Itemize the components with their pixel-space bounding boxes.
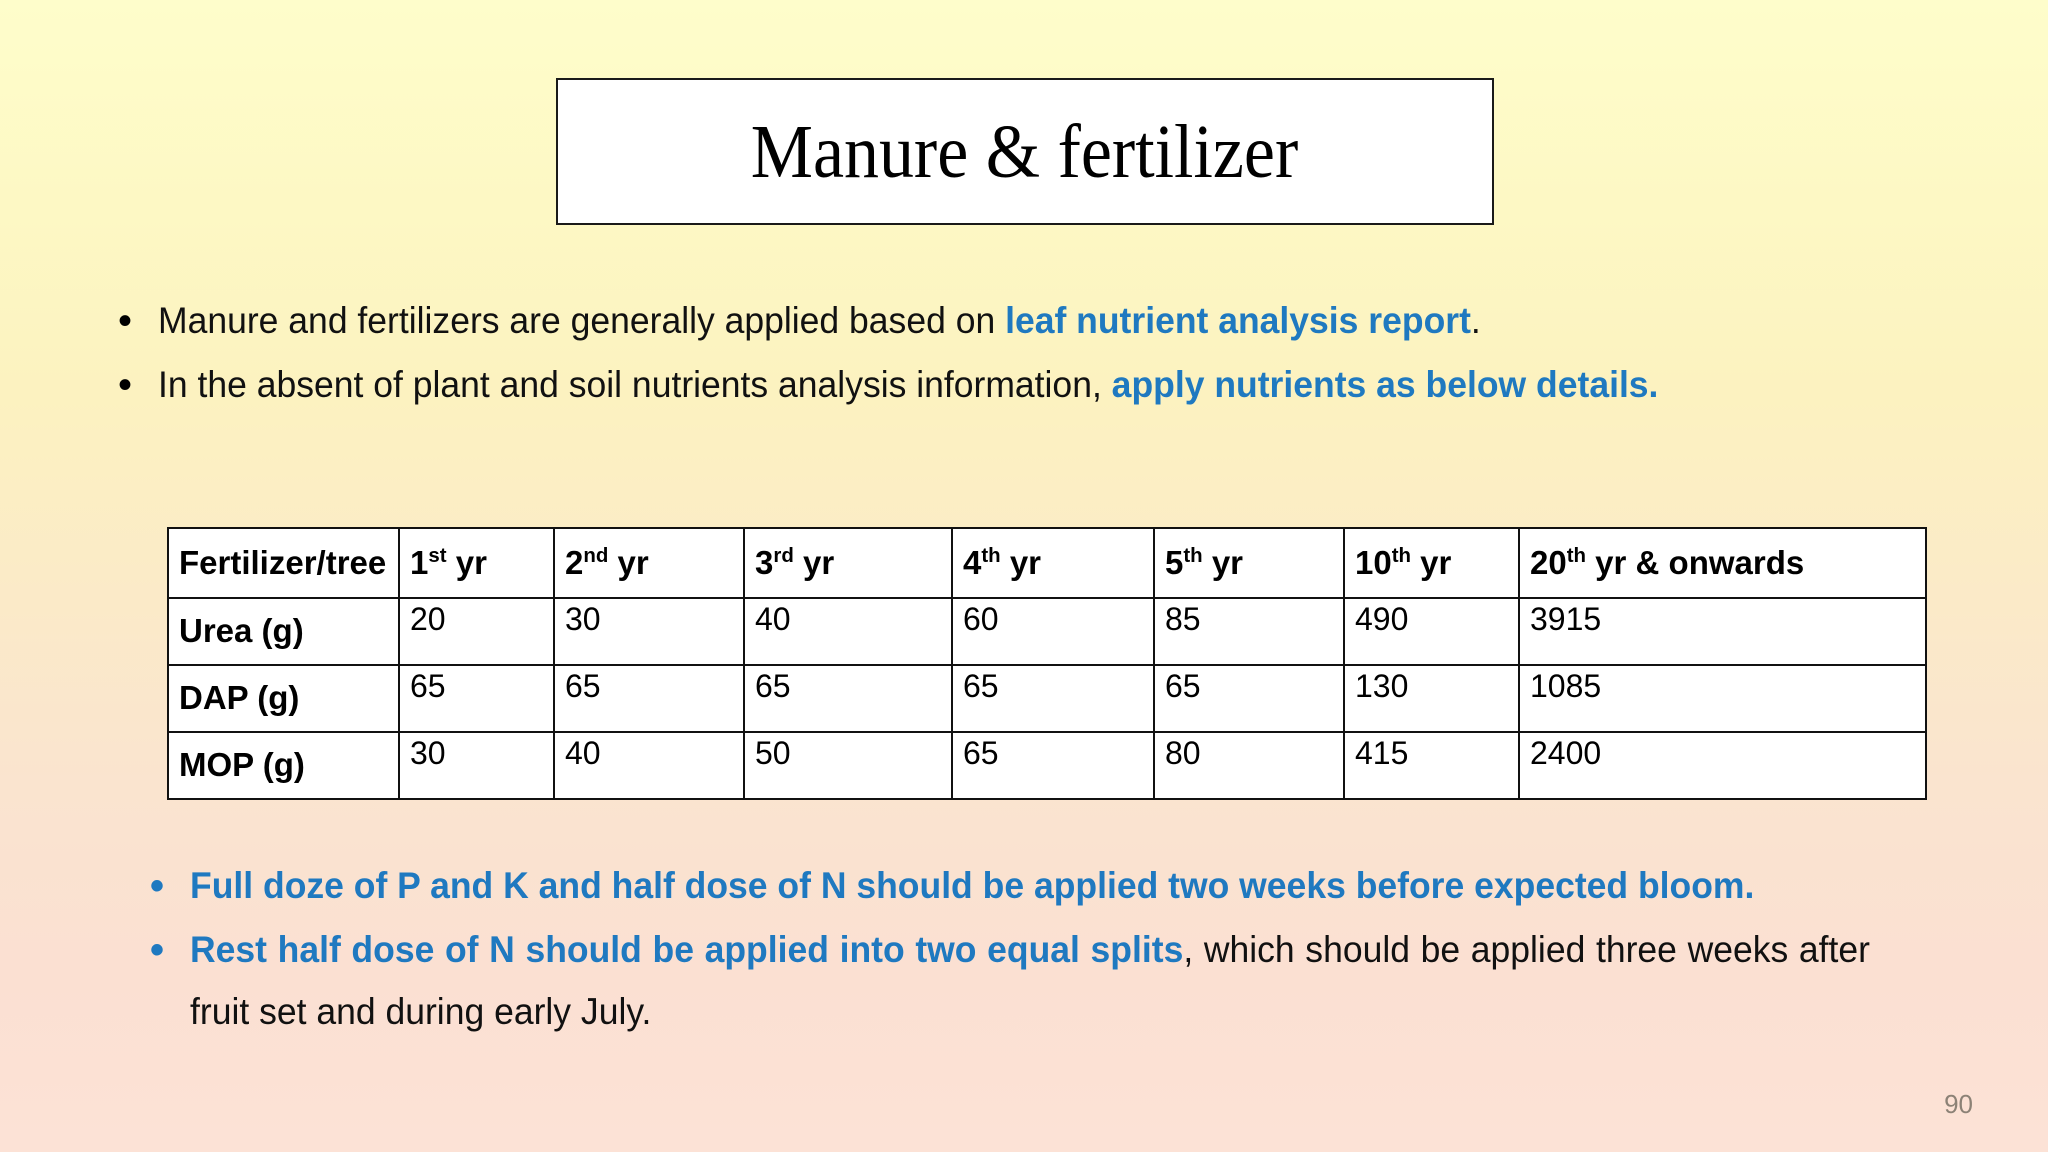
header-main: 5 bbox=[1165, 544, 1183, 581]
table-column-header: 3rd yr bbox=[744, 528, 952, 598]
header-tail: yr bbox=[608, 544, 648, 581]
table-cell: 40 bbox=[744, 598, 952, 665]
table-row-label: DAP (g) bbox=[168, 665, 399, 732]
bullet-text: Rest half dose of N should be applied in… bbox=[190, 919, 1870, 1043]
table-cell: 2400 bbox=[1519, 732, 1926, 799]
table-cell: 85 bbox=[1154, 598, 1344, 665]
highlighted-text: Full doze of P and K and half dose of N … bbox=[190, 865, 1754, 906]
header-tail: yr bbox=[1001, 544, 1041, 581]
header-tail: yr bbox=[794, 544, 834, 581]
highlighted-text: apply nutrients as below details. bbox=[1112, 364, 1659, 405]
table-row-label: Urea (g) bbox=[168, 598, 399, 665]
table-column-header: 5th yr bbox=[1154, 528, 1344, 598]
table-header: Fertilizer/tree1st yr2nd yr3rd yr4th yr5… bbox=[168, 528, 1926, 598]
bullet-item: •In the absent of plant and soil nutrien… bbox=[118, 354, 1938, 416]
bullet-text: In the absent of plant and soil nutrient… bbox=[158, 354, 1867, 416]
highlighted-text: leaf nutrient analysis report bbox=[1005, 300, 1471, 341]
header-ordinal-suffix: th bbox=[981, 544, 1000, 567]
table-cell: 65 bbox=[952, 732, 1154, 799]
table-column-header: 20th yr & onwards bbox=[1519, 528, 1926, 598]
table-header-row: Fertilizer/tree1st yr2nd yr3rd yr4th yr5… bbox=[168, 528, 1926, 598]
table-row: MOP (g)30405065804152400 bbox=[168, 732, 1926, 799]
header-main: 3 bbox=[755, 544, 773, 581]
table-row: Urea (g)20304060854903915 bbox=[168, 598, 1926, 665]
table-cell: 50 bbox=[744, 732, 952, 799]
table-cell: 65 bbox=[1154, 665, 1344, 732]
table-cell: 30 bbox=[554, 598, 744, 665]
bullet-text: Manure and fertilizers are generally app… bbox=[158, 290, 1867, 352]
header-tail: yr bbox=[1203, 544, 1243, 581]
page-number: 90 bbox=[1944, 1089, 1973, 1120]
highlighted-text: Rest half dose of N should be applied in… bbox=[190, 929, 1183, 970]
bullet-item: •Manure and fertilizers are generally ap… bbox=[118, 290, 1938, 352]
table-cell: 65 bbox=[952, 665, 1154, 732]
table-cell: 130 bbox=[1344, 665, 1519, 732]
table-cell: 60 bbox=[952, 598, 1154, 665]
page-title: Manure & fertilizer bbox=[751, 114, 1298, 190]
bullet-item: •Rest half dose of N should be applied i… bbox=[150, 919, 1940, 1043]
header-main: 4 bbox=[963, 544, 981, 581]
header-tail: yr bbox=[1411, 544, 1451, 581]
header-tail: yr bbox=[447, 544, 487, 581]
bullet-text: Full doze of P and K and half dose of N … bbox=[190, 855, 1870, 917]
slide-title-box: Manure & fertilizer bbox=[556, 78, 1494, 225]
table-column-header: 2nd yr bbox=[554, 528, 744, 598]
table-cell: 20 bbox=[399, 598, 554, 665]
header-ordinal-suffix: st bbox=[428, 544, 446, 567]
header-main: Fertilizer/tree bbox=[179, 544, 386, 581]
plain-text: . bbox=[1471, 300, 1481, 341]
bullet-marker-icon: • bbox=[118, 290, 158, 352]
table-cell: 415 bbox=[1344, 732, 1519, 799]
header-main: 2 bbox=[565, 544, 583, 581]
table-column-header: 4th yr bbox=[952, 528, 1154, 598]
table-row: DAP (g)65656565651301085 bbox=[168, 665, 1926, 732]
bullet-marker-icon: • bbox=[150, 855, 190, 917]
table-cell: 3915 bbox=[1519, 598, 1926, 665]
plain-text: Manure and fertilizers are generally app… bbox=[158, 300, 1005, 341]
table-cell: 65 bbox=[399, 665, 554, 732]
plain-text: In the absent of plant and soil nutrient… bbox=[158, 364, 1112, 405]
header-main: 10 bbox=[1355, 544, 1392, 581]
table-cell: 65 bbox=[554, 665, 744, 732]
header-main: 20 bbox=[1530, 544, 1567, 581]
header-main: 1 bbox=[410, 544, 428, 581]
bullet-marker-icon: • bbox=[150, 919, 190, 981]
fertilizer-dose-table: Fertilizer/tree1st yr2nd yr3rd yr4th yr5… bbox=[167, 527, 1927, 800]
table-cell: 490 bbox=[1344, 598, 1519, 665]
header-ordinal-suffix: rd bbox=[773, 544, 793, 567]
table-cell: 40 bbox=[554, 732, 744, 799]
header-ordinal-suffix: th bbox=[1183, 544, 1202, 567]
table-column-header: Fertilizer/tree bbox=[168, 528, 399, 598]
table-cell: 30 bbox=[399, 732, 554, 799]
top-bullet-list: •Manure and fertilizers are generally ap… bbox=[118, 290, 1938, 418]
header-tail: yr & onwards bbox=[1586, 544, 1804, 581]
table-row-label: MOP (g) bbox=[168, 732, 399, 799]
table-cell: 80 bbox=[1154, 732, 1344, 799]
bottom-bullet-list: •Full doze of P and K and half dose of N… bbox=[150, 855, 1940, 1045]
header-ordinal-suffix: th bbox=[1567, 544, 1586, 567]
header-ordinal-suffix: th bbox=[1392, 544, 1411, 567]
table-body: Urea (g)20304060854903915DAP (g)65656565… bbox=[168, 598, 1926, 799]
table-cell: 1085 bbox=[1519, 665, 1926, 732]
table-column-header: 10th yr bbox=[1344, 528, 1519, 598]
table-cell: 65 bbox=[744, 665, 952, 732]
table-column-header: 1st yr bbox=[399, 528, 554, 598]
bullet-marker-icon: • bbox=[118, 354, 158, 416]
header-ordinal-suffix: nd bbox=[583, 544, 608, 567]
bullet-item: •Full doze of P and K and half dose of N… bbox=[150, 855, 1940, 917]
